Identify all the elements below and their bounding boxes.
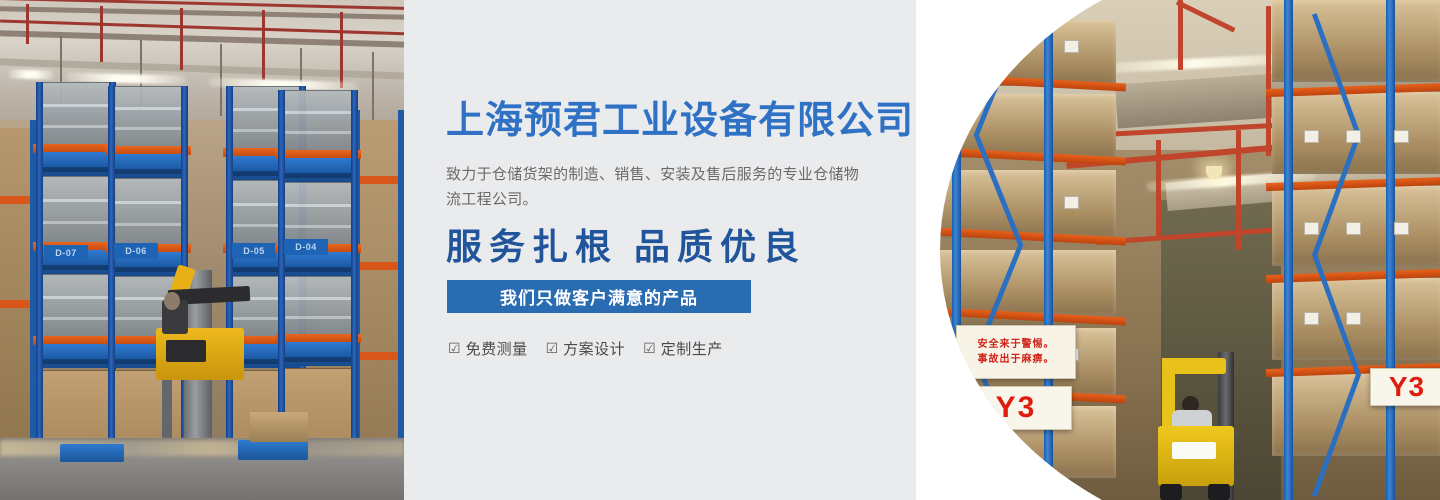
forklift — [1156, 352, 1252, 500]
center-copy-panel: 上海预君工业设备有限公司 致力于仓储货架的制造、销售、安装及售后服务的专业仓储物… — [404, 0, 960, 500]
checkbox-checked-icon: ☑ — [546, 342, 559, 356]
sprinkler-drop — [100, 6, 103, 62]
safety-sign-line1: 安全来于警惕。 — [978, 337, 1055, 352]
carton-label — [1346, 312, 1361, 325]
rack-upright — [1386, 0, 1395, 500]
hero-banner: D-07 D-06 — [0, 0, 1440, 500]
rack-bay-right — [1272, 0, 1440, 500]
rack-upright — [108, 86, 115, 494]
cta-button[interactable]: 我们只做客户满意的产品 — [447, 280, 751, 313]
carton-goods — [250, 412, 308, 442]
carton-pallet — [916, 20, 1116, 86]
sprinkler-drop — [340, 12, 343, 88]
palletized-goods — [39, 176, 115, 244]
carton-label — [1304, 130, 1319, 143]
forklift-operator — [164, 292, 180, 310]
ceiling-light — [8, 69, 54, 79]
rack-location-label: D-04 — [284, 239, 328, 255]
palletized-goods — [39, 82, 115, 146]
forklift-wheel — [1208, 484, 1230, 500]
carton-label — [1346, 130, 1361, 143]
carton-label — [1346, 222, 1361, 235]
rack-upright — [351, 90, 358, 498]
feature-label: 方案设计 — [563, 338, 625, 359]
company-subtitle: 致力于仓储货架的制造、销售、安装及售后服务的专业仓储物流工程公司。 — [446, 162, 866, 212]
right-warehouse-photo: 安全来于警惕。 事故出于麻痹。 Y3 Y3 — [916, 0, 1440, 500]
sprinkler-drop — [1236, 130, 1241, 250]
palletized-goods — [111, 86, 187, 148]
blue-pallet — [278, 158, 358, 182]
palletized-goods — [281, 276, 357, 336]
blue-pallet — [238, 440, 308, 460]
feature-item-free-measurement[interactable]: ☑ 免费测量 — [448, 338, 528, 359]
feature-label: 免费测量 — [466, 338, 528, 359]
carton-label — [1394, 222, 1409, 235]
palletized-goods — [39, 274, 115, 338]
blue-pallet — [36, 344, 116, 368]
carton-label — [1064, 40, 1079, 53]
blue-pallet — [60, 444, 124, 462]
feature-item-scheme-design[interactable]: ☑ 方案设计 — [546, 338, 626, 359]
carton-label — [1394, 130, 1409, 143]
left-warehouse-photo: D-07 D-06 — [0, 0, 404, 500]
forklift-wheel — [1160, 484, 1182, 500]
forklift-canopy — [1162, 358, 1226, 374]
safety-sign: 安全来于警惕。 事故出于麻痹。 — [956, 325, 1076, 379]
feature-item-custom-production[interactable]: ☑ 定制生产 — [643, 338, 723, 359]
carton-pallet — [916, 94, 1116, 158]
carton-pallet — [1272, 0, 1440, 82]
palletized-goods — [281, 90, 357, 152]
rack-location-label: D-07 — [44, 245, 88, 261]
sprinkler-pipe — [1178, 0, 1183, 70]
forklift-plate — [1172, 442, 1216, 459]
right-photo-wrap: 安全来于警惕。 事故出于麻痹。 Y3 Y3 — [916, 0, 1440, 500]
feature-label: 定制生产 — [661, 338, 723, 359]
carton-label — [1304, 222, 1319, 235]
forklift-cab — [156, 328, 244, 380]
sprinkler-drop — [1156, 140, 1161, 240]
blue-pallet — [278, 252, 358, 276]
rack-bay — [36, 82, 116, 490]
rack-upright — [952, 0, 961, 500]
company-slogan: 服务扎根 品质优良 — [446, 226, 806, 269]
aisle-label-sign: Y3 — [960, 386, 1072, 430]
palletized-goods — [281, 182, 357, 246]
safety-sign-line2: 事故出于麻痹。 — [978, 352, 1055, 367]
rack-upright — [36, 82, 43, 490]
checkbox-checked-icon: ☑ — [448, 342, 461, 356]
rack-upright — [1284, 0, 1293, 500]
feature-list: ☑ 免费测量 ☑ 方案设计 ☑ 定制生产 — [448, 338, 723, 359]
ceiling-hanger — [372, 52, 374, 128]
blue-pallet — [36, 152, 116, 176]
sprinkler-drop — [180, 8, 183, 70]
company-title: 上海预君工业设备有限公司 — [446, 102, 914, 140]
checkbox-checked-icon: ☑ — [643, 342, 656, 356]
forklift-body — [1158, 426, 1234, 486]
sprinkler-pipe — [1266, 6, 1271, 156]
sprinkler-drop — [262, 10, 265, 80]
sprinkler-drop — [26, 4, 29, 44]
carton-label — [1064, 196, 1079, 209]
blue-pallet — [278, 342, 358, 366]
carton-label — [1304, 312, 1319, 325]
aisle-label-sign-secondary: Y3 — [1370, 368, 1440, 406]
